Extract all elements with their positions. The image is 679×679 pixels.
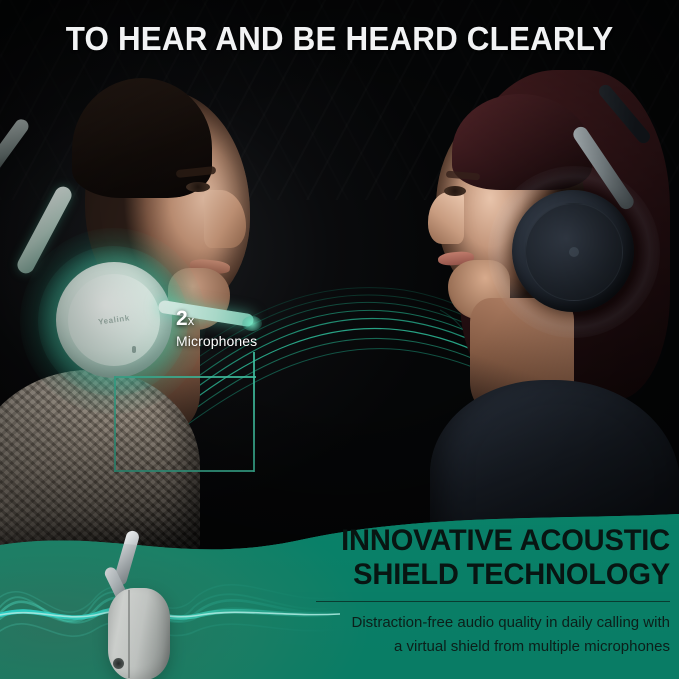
headset-dark-icon bbox=[512, 190, 634, 312]
person-right-woman bbox=[400, 60, 679, 540]
feature-subtitle-line1: Distraction-free audio quality in daily … bbox=[312, 611, 670, 634]
leader-line-horizontal bbox=[114, 470, 254, 472]
headband-upper-left bbox=[0, 117, 31, 182]
leader-line-top bbox=[114, 376, 256, 378]
page-title: TO HEAR AND BE HEARD CLEARLY bbox=[17, 22, 662, 57]
woman-nose bbox=[428, 192, 464, 244]
man-eye bbox=[186, 182, 210, 192]
headset-mint-icon: Yealink bbox=[56, 262, 172, 378]
feature-subtitle-line2: a virtual shield from multiple microphon… bbox=[312, 635, 670, 658]
woman-eye bbox=[444, 186, 466, 196]
earcup-silver-icon bbox=[98, 530, 188, 670]
earcup-right-logo bbox=[569, 247, 579, 257]
title-divider bbox=[316, 601, 670, 603]
feature-text-block: INNOVATIVE ACOUSTIC SHIELD TECHNOLOGY Di… bbox=[312, 524, 670, 658]
earcup-right-inner bbox=[525, 203, 623, 301]
earcup-button bbox=[132, 346, 136, 353]
feature-title-line1: INNOVATIVE ACOUSTIC bbox=[323, 524, 670, 558]
feature-title: INNOVATIVE ACOUSTIC SHIELD TECHNOLOGY bbox=[323, 524, 670, 592]
person-left-man: Yealink bbox=[0, 70, 290, 540]
product-seam bbox=[128, 590, 130, 678]
product-port bbox=[113, 658, 124, 669]
feature-subtitle: Distraction-free audio quality in daily … bbox=[312, 611, 670, 658]
callout-label: Microphones bbox=[176, 333, 257, 349]
photo-scene: Yealink 2x Microphones bbox=[0, 0, 679, 560]
leader-line-vertical-right bbox=[253, 352, 255, 472]
leader-line-vertical-left bbox=[114, 376, 116, 472]
microphone-callout: 2x Microphones bbox=[176, 308, 257, 349]
product-marketing-poster: Yealink 2x Microphones bbox=[0, 0, 679, 679]
callout-count: 2x bbox=[176, 308, 257, 329]
feature-title-line2: SHIELD TECHNOLOGY bbox=[323, 558, 670, 592]
